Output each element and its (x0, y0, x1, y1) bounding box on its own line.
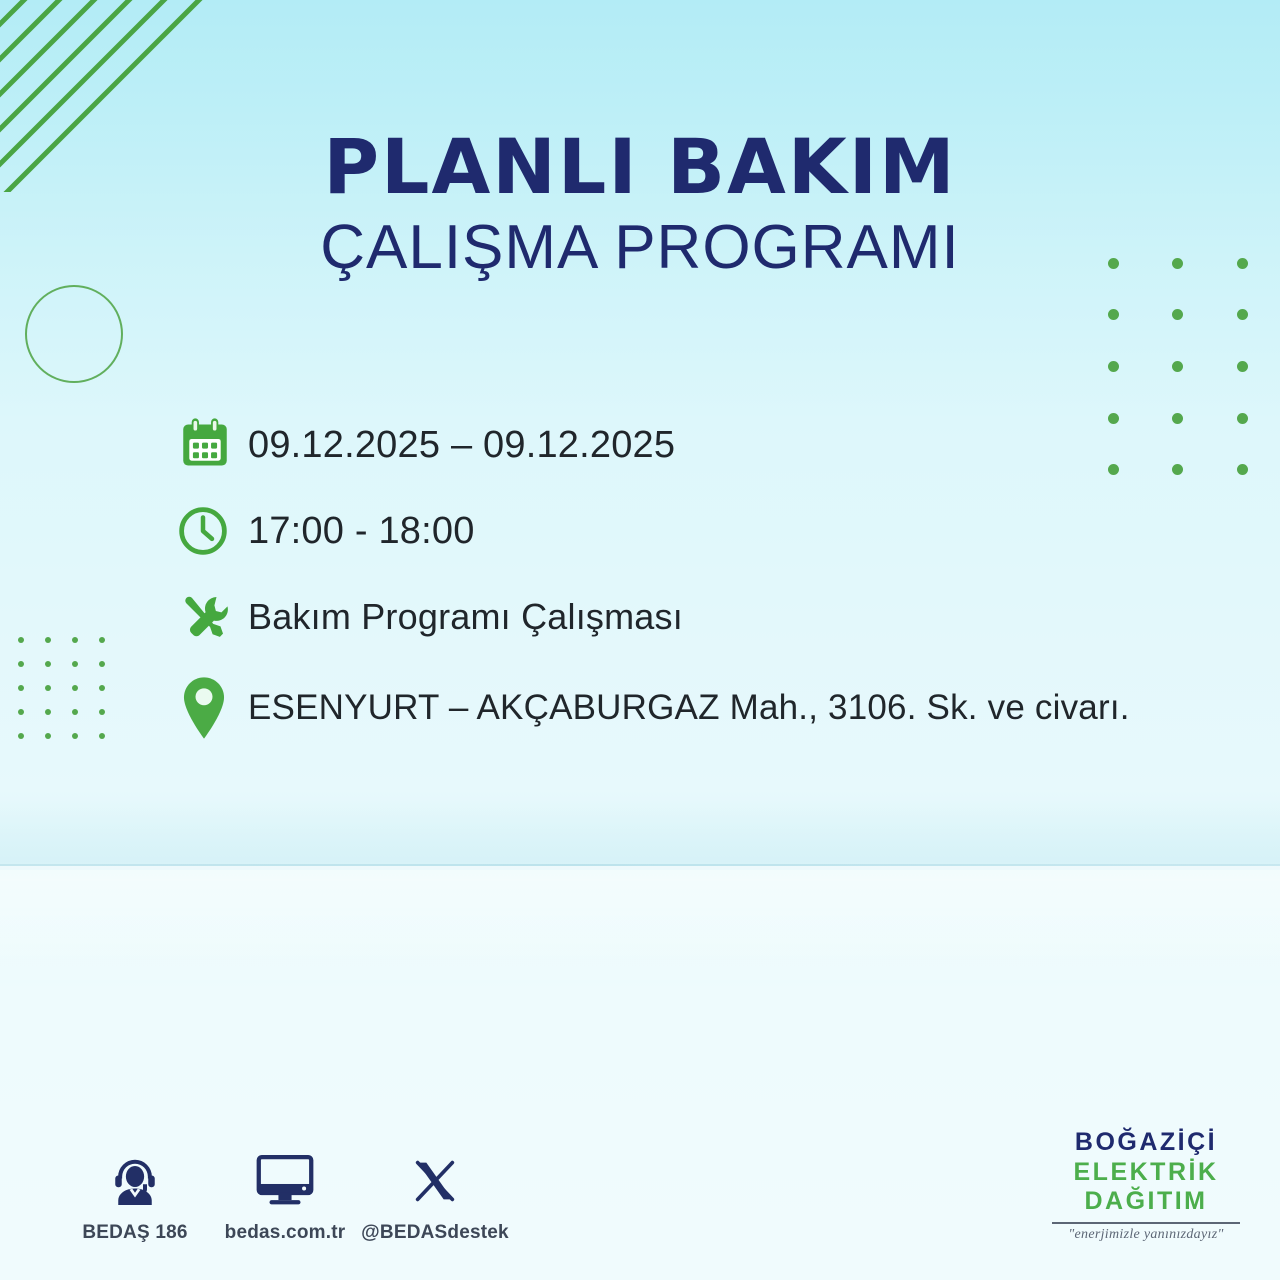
brand-line-3: DAĞITIM (1046, 1187, 1246, 1217)
brand-line-1: BOĞAZİÇİ (1046, 1128, 1246, 1158)
footer-item-twitter[interactable]: @BEDASdestek (360, 1148, 510, 1244)
location-pin-icon (176, 675, 248, 741)
circle-outline-decoration (25, 285, 123, 383)
detail-row-date: 09.12.2025 – 09.12.2025 (176, 402, 1266, 488)
detail-row-work-type: Bakım Programı Çalışması (176, 574, 1266, 660)
footer-label-website: bedas.com.tr (210, 1222, 360, 1244)
title-line-1: PLANLI BAKIM (0, 128, 1280, 206)
footer-contacts: BEDAŞ 186 bedas.com.tr (60, 1148, 510, 1244)
brand-divider (1052, 1222, 1240, 1224)
tools-icon (176, 588, 248, 646)
headset-support-icon (60, 1148, 210, 1214)
background-band-lower (0, 866, 1280, 986)
title-line-2: ÇALIŞMA PROGRAMI (0, 212, 1280, 283)
monitor-icon (210, 1148, 360, 1214)
clock-icon (176, 504, 248, 558)
brand-logo: BOĞAZİÇİ ELEKTRİK DAĞITIM "enerjimizle y… (1046, 1128, 1246, 1243)
detail-row-time: 17:00 - 18:00 (176, 488, 1266, 574)
brand-line-2: ELEKTRİK (1046, 1158, 1246, 1188)
detail-value-location: ESENYURT – AKÇABURGAZ Mah., 3106. Sk. ve… (248, 688, 1130, 728)
footer-label-twitter: @BEDASdestek (360, 1222, 510, 1244)
brand-tagline: "enerjimizle yanınızdayız" (1046, 1227, 1246, 1243)
background-band-upper (0, 800, 1280, 870)
footer-label-phone: BEDAŞ 186 (60, 1222, 210, 1244)
detail-value-time: 17:00 - 18:00 (248, 510, 475, 553)
maintenance-details: 09.12.2025 – 09.12.2025 17:00 - 18:00 (176, 402, 1266, 756)
dot-grid-left-decoration (18, 637, 114, 743)
detail-value-date: 09.12.2025 – 09.12.2025 (248, 424, 675, 467)
calendar-icon (176, 416, 248, 474)
detail-row-location: ESENYURT – AKÇABURGAZ Mah., 3106. Sk. ve… (176, 660, 1266, 756)
page-title: PLANLI BAKIM ÇALIŞMA PROGRAMI (0, 128, 1280, 283)
x-twitter-icon (360, 1148, 510, 1214)
detail-value-work-type: Bakım Programı Çalışması (248, 596, 683, 638)
footer-item-phone[interactable]: BEDAŞ 186 (60, 1148, 210, 1244)
background-divider-line (0, 864, 1280, 866)
planned-maintenance-poster: PLANLI BAKIM ÇALIŞMA PROGRAMI (0, 0, 1280, 1280)
footer-item-website[interactable]: bedas.com.tr (210, 1148, 360, 1244)
